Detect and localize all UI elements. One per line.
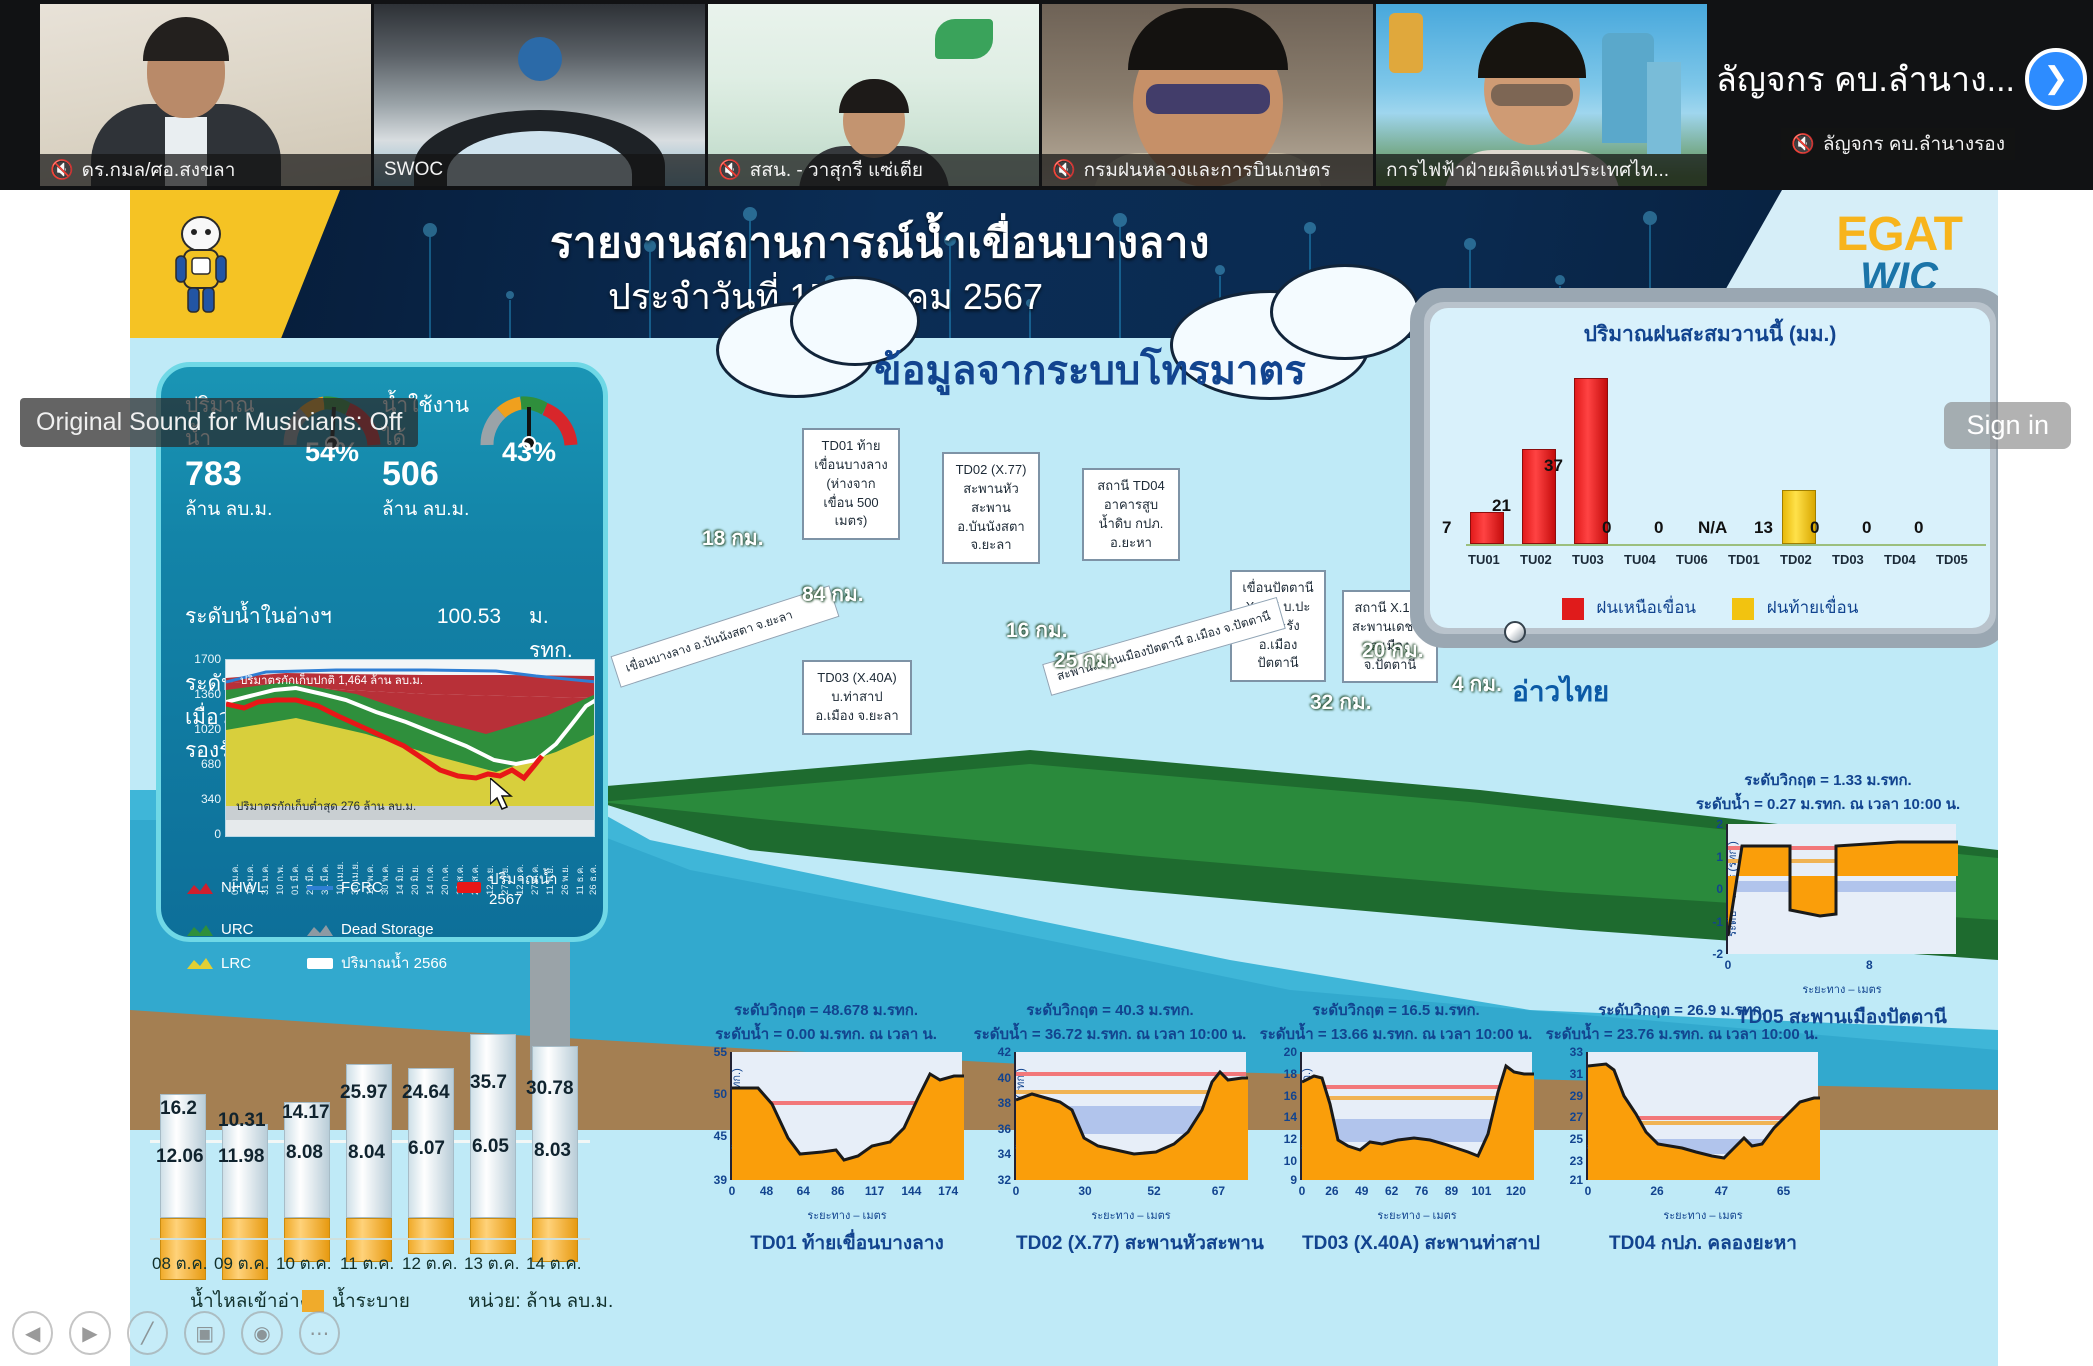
outflow-value-2: 11.98 <box>218 1146 265 1168</box>
gulf-of-thailand-label: อ่าวไทย <box>1512 670 1609 714</box>
outflow-bar-5 <box>408 1218 454 1254</box>
xtick: 30 <box>1078 1184 1091 1198</box>
td03-water-label: ระดับน้ำ = 13.66 ม.รทก. ณ เวลา 10:00 น. <box>1256 1022 1536 1046</box>
ytick: 16 <box>1284 1089 1297 1103</box>
xtick: 0 <box>1299 1184 1306 1198</box>
legend-item-volume-2567: ปริมาณน้ำ 2567 <box>457 867 587 908</box>
rainfall-cat-tu02: TU02 <box>1520 552 1552 567</box>
xtick: 26 <box>1325 1184 1338 1198</box>
water-report-slide: รายงานสถานการณ์น้ำเขื่อนบางลาง ประจำวันท… <box>130 190 1998 1366</box>
td04-water-label: ระดับน้ำ = 23.76 ม.รทก. ณ เวลา 10:00 น. <box>1542 1022 1822 1046</box>
ytick: 0 <box>1716 882 1723 896</box>
participant-name-4: การไฟฟ้าฝ่ายผลิตแห่งประเทศไท... <box>1386 155 1669 185</box>
td05-critical-label: ระดับวิกฤต = 1.33 ม.รทก. <box>1678 768 1978 792</box>
ytick: 55 <box>714 1045 727 1059</box>
xtick: 8 <box>1866 958 1873 972</box>
area-swatch-icon <box>187 924 213 936</box>
date-label-7: 14 ต.ค. <box>526 1250 582 1277</box>
date-label-5: 12 ต.ค. <box>402 1250 458 1277</box>
rainfall-bars <box>1466 364 1986 544</box>
participant-name-bar-4: การไฟฟ้าฝ่ายผลิตแห่งประเทศไท... <box>1376 154 1707 186</box>
td02-critical-label: ระดับวิกฤต = 40.3 ม.รทก. <box>970 998 1250 1022</box>
ytick: 20 <box>1284 1045 1297 1059</box>
td01-water-label: ระดับน้ำ = 0.00 ม.รทก. ณ เวลา น. <box>686 1022 966 1046</box>
egat-wic-logo: EGAT WIC <box>1836 212 1962 296</box>
gauge-storage-unit: ล้าน ลบ.ม. <box>185 494 278 524</box>
video-tile-4-active-speaker[interactable]: การไฟฟ้าฝ่ายผลิตแห่งประเทศไท... <box>1376 4 1707 186</box>
ytick: 31 <box>1570 1067 1583 1081</box>
legend-label: ฝนเหนือเขื่อน <box>1596 598 1696 617</box>
td05-plot: ระดับ – เมตร (รทก.) 2 1 0 -1 -2 0 8 ระย <box>1726 824 1956 954</box>
outflow-bar-6 <box>470 1218 516 1254</box>
row-unit: ม. รทก. <box>529 600 579 667</box>
xtick: 0 <box>729 1184 736 1198</box>
shared-screen-area: รายงานสถานการณ์น้ำเขื่อนบางลาง ประจำวันท… <box>0 190 2093 1366</box>
ytick: 14 <box>1284 1110 1297 1124</box>
ytick: 38 <box>998 1096 1011 1110</box>
ytick: 1360 <box>194 687 221 701</box>
ytick: 23 <box>1570 1154 1583 1168</box>
ytick: 45 <box>714 1129 727 1143</box>
td05-xlabel: ระยะทาง – เมตร <box>1728 980 1956 998</box>
more-options-button[interactable]: ⋯ <box>299 1311 340 1355</box>
td02-xlabel: ระยะทาง – เมตร <box>1016 1206 1246 1224</box>
legend-item-nhwl: NHWL <box>187 867 307 908</box>
rainfall-cat-tu03: TU03 <box>1572 552 1604 567</box>
chevron-right-icon: ❯ <box>2043 64 2068 94</box>
rainfall-value-tu04: 0 <box>1602 518 1611 538</box>
station-chart-td02: ระดับวิกฤต = 40.3 ม.รทก. ระดับน้ำ = 36.7… <box>970 998 1250 1180</box>
video-tiles: 🔇 ดร.กมล/ศอ.สงขลา SWOC 🔇 สสน. - วา <box>40 4 1710 186</box>
rainfall-value-td01: N/A <box>1698 518 1727 538</box>
legend-label: NHWL <box>221 879 265 896</box>
station-chart-td01: ระดับวิกฤต = 48.678 ม.รทก. ระดับน้ำ = 0.… <box>686 998 966 1180</box>
outflow-value-1: 12.06 <box>156 1146 204 1168</box>
row-value: 100.53 <box>409 600 529 667</box>
gauge-usable-percent: 43% <box>479 437 579 468</box>
video-filmstrip: 🔇 ดร.กมล/ศอ.สงขลา SWOC 🔇 สสน. - วา <box>0 0 2093 190</box>
area-swatch-icon <box>307 924 333 936</box>
reservoir-summary-card: ปริมาณน้ำ 783 ล้าน ลบ.ม. <box>156 362 608 942</box>
legend-item-urc: URC <box>187 921 307 938</box>
ytick: 40 <box>998 1071 1011 1085</box>
callout-td01: TD01 ท้ายเขื่อนบางลาง (ห่างจากเขื่อน 500… <box>802 428 900 540</box>
date-label-6: 13 ต.ค. <box>464 1250 520 1277</box>
ytick: 0 <box>214 827 221 841</box>
storage-chart-plot: ปริมาตรกักเก็บปกติ 1,464 ล้าน ลบ.ม. ปริม… <box>225 659 595 837</box>
outflow-value-7: 8.03 <box>534 1140 571 1162</box>
ytick: 18 <box>1284 1067 1297 1081</box>
prev-arrow-icon: ◀ <box>25 1321 40 1346</box>
td01-xlabel: ระยะทาง – เมตร <box>732 1206 962 1224</box>
xtick: 174 <box>938 1184 958 1198</box>
inflow-value-3: 14.17 <box>282 1102 330 1124</box>
rainfall-cat-td01: TD01 <box>1728 552 1760 567</box>
unit-note: หน่วย: ล้าน ลบ.ม. <box>468 1286 613 1316</box>
legend-label: URC <box>221 921 254 938</box>
rainfall-value-tu03: 37 <box>1544 456 1563 476</box>
rainfall-chart: ปริมาณฝนสะสมวานนี้ (มม.) 7 21 37 0 0 N/A… <box>1430 308 1990 628</box>
slide-title: รายงานสถานการณ์น้ำเขื่อนบางลาง <box>550 210 1210 276</box>
participant-name-5: ลัญจกร คบ.ลำนางรอง <box>1823 129 2005 159</box>
xtick: 26 <box>1650 1184 1663 1198</box>
distance-label-20km: 20 กม. <box>1362 634 1424 667</box>
xtick: 76 <box>1415 1184 1428 1198</box>
rainfall-value-td02: 13 <box>1754 518 1773 538</box>
egat-logo-text: EGAT <box>1836 208 1962 261</box>
gauge-storage-value: 783 <box>185 455 278 494</box>
date-label-4: 11 ต.ค. <box>340 1250 394 1277</box>
ytick: 9 <box>1290 1173 1297 1187</box>
xtick: 0 <box>1725 958 1732 972</box>
ytick: 42 <box>998 1045 1011 1059</box>
xtick: 26 ธ.ค. <box>586 864 601 895</box>
original-sound-toast: Original Sound for Musicians: Off <box>20 398 418 447</box>
distance-label-16km: 16 กม. <box>1006 614 1068 647</box>
stamp-icon: ▣ <box>195 1321 214 1346</box>
gauge-usable-dial: 43% <box>479 391 579 465</box>
xtick: 47 <box>1715 1184 1728 1198</box>
inflow-bar-6 <box>470 1034 516 1218</box>
ytick: 1 <box>1716 850 1723 864</box>
rainfall-cat-tu06: TU06 <box>1676 552 1708 567</box>
ytick: 29 <box>1570 1089 1583 1103</box>
participant-name-bar-2: 🔇 สสน. - วาสุกรี แซ่เตีย <box>708 154 1039 186</box>
participant-name-bar-0: 🔇 ดร.กมล/ศอ.สงขลา <box>40 154 371 186</box>
inflow-value-2: 10.31 <box>218 1110 266 1132</box>
rainfall-cat-tu01: TU01 <box>1468 552 1500 567</box>
ytick: 32 <box>998 1173 1011 1187</box>
xtick: 101 <box>1471 1184 1491 1198</box>
yellow-swatch-icon <box>1732 598 1754 620</box>
ytick: 39 <box>714 1173 727 1187</box>
pen-button[interactable]: ╱ <box>127 1311 168 1355</box>
date-label-2: 09 ต.ค. <box>214 1250 270 1277</box>
area-swatch-icon <box>187 882 213 894</box>
participant-name-bar-5: 🔇 ลัญจกร คบ.ลำนางรอง <box>1781 128 2015 160</box>
td05-water-label: ระดับน้ำ = 0.27 ม.รทก. ณ เวลา 10:00 น. <box>1678 792 1978 816</box>
video-tile-0[interactable]: 🔇 ดร.กมล/ศอ.สงขลา <box>40 4 371 186</box>
stamp-button[interactable]: ▣ <box>184 1311 225 1355</box>
legend-label: FCRC <box>341 879 383 896</box>
distance-label-4km: 4 กม. <box>1452 668 1502 701</box>
mic-muted-icon: 🔇 <box>1791 135 1815 154</box>
td04-xlabel: ระยะทาง – เมตร <box>1588 1206 1818 1224</box>
video-tile-3[interactable]: 🔇 กรมฝนหลวงและการบินเกษตร <box>1042 4 1373 186</box>
date-label-1: 08 ต.ค. <box>152 1250 208 1277</box>
storage-chart-yaxis: 1700 1360 1020 680 340 0 <box>179 659 223 837</box>
ytick: 340 <box>201 792 221 806</box>
distance-label-84km: 84 กม. <box>802 578 864 611</box>
td03-xlabel: ระยะทาง – เมตร <box>1302 1206 1532 1224</box>
prev-arrow-button[interactable]: ◀ <box>12 1311 53 1355</box>
ytick: 1700 <box>194 652 221 666</box>
xtick: 86 <box>831 1184 844 1198</box>
td01-plot: ระดับ – เมตร (รทก.) 55 50 45 39 0 48 64 … <box>730 1052 962 1180</box>
outflow-value-5: 6.07 <box>408 1138 445 1160</box>
mic-muted-icon: 🔇 <box>1052 161 1076 180</box>
td01-critical-label: ระดับวิกฤต = 48.678 ม.รทก. <box>686 998 966 1022</box>
rainfall-cat-tu04: TU04 <box>1624 552 1656 567</box>
inflow-value-1: 16.2 <box>160 1098 197 1120</box>
station-chart-td03: ระดับวิกฤต = 16.5 ม.รทก. ระดับน้ำ = 13.6… <box>1256 998 1536 1180</box>
outflow-value-6: 6.05 <box>472 1136 509 1158</box>
video-tile-2[interactable]: 🔇 สสน. - วาสุกรี แซ่เตีย <box>708 4 1039 186</box>
sign-in-button[interactable]: Sign in <box>1944 402 2071 449</box>
ytick: 21 <box>1570 1173 1583 1187</box>
rainfall-legend: ฝนเหนือเขื่อน ฝนท้ายเขื่อน <box>1430 594 1990 621</box>
rainfall-value-td03: 0 <box>1810 518 1819 538</box>
xtick: 67 <box>1212 1184 1225 1198</box>
ytick: -2 <box>1712 947 1723 961</box>
rainfall-cat-td02: TD02 <box>1780 552 1812 567</box>
legend-label: Dead Storage <box>341 921 434 938</box>
ytick: 2 <box>1716 817 1723 831</box>
td03-plot: ระดับ – เมตร (รทก.) 20 18 16 14 12 10 9 <box>1300 1052 1532 1180</box>
overflow-participant-name: ลัญจกร คบ.ลำนาง... <box>1716 52 2015 106</box>
xtick: 144 <box>901 1184 921 1198</box>
td04-name: TD04 กปภ. คลองยะหา <box>1588 1228 1818 1258</box>
xtick: 52 <box>1147 1184 1160 1198</box>
summary-row: ระดับน้ำในอ่างฯ 100.53 ม. รทก. <box>185 600 579 667</box>
diagram-title: ข้อมูลจากระบบโทรมาตร <box>830 338 1350 402</box>
mic-muted-icon: 🔇 <box>718 161 742 180</box>
play-button[interactable]: ▶ <box>69 1311 110 1355</box>
rainfall-bar-tu01 <box>1470 512 1504 544</box>
spotlight-button[interactable]: ◉ <box>241 1311 282 1355</box>
rainfall-cat-td04: TD04 <box>1884 552 1916 567</box>
participant-name-2: สสน. - วาสุกรี แซ่เตีย <box>750 155 923 185</box>
distance-label-18km: 18 กม. <box>702 522 764 555</box>
ytick: -1 <box>1712 915 1723 929</box>
video-tile-1[interactable]: SWOC <box>374 4 705 186</box>
distance-label-32km: 32 กม. <box>1310 686 1372 719</box>
td03-critical-label: ระดับวิกฤต = 16.5 ม.รทก. <box>1256 998 1536 1022</box>
participant-name-1: SWOC <box>384 159 443 181</box>
legend-upstream-rain: ฝนเหนือเขื่อน <box>1562 594 1696 621</box>
inflow-bar-2 <box>222 1124 268 1218</box>
td04-plot: ระดับ – เมตร (รทก.) 33 31 29 27 25 23 21 <box>1586 1052 1818 1180</box>
thick-swatch-icon <box>457 882 481 893</box>
participant-name-0: ดร.กมล/ศอ.สงขลา <box>82 155 236 185</box>
more-icon: ⋯ <box>309 1321 329 1346</box>
outflow-value-3: 8.08 <box>286 1142 323 1164</box>
station-chart-td05: ระดับวิกฤต = 1.33 ม.รทก. ระดับน้ำ = 0.27… <box>1678 768 1978 954</box>
legend-label: ปริมาณน้ำ 2567 <box>489 867 587 908</box>
inflow-value-7: 30.78 <box>526 1078 574 1100</box>
annotation-toolbar: ◀ ▶ ╱ ▣ ◉ ⋯ <box>0 1300 340 1366</box>
distance-label-25km: 25 กม. <box>1054 644 1116 677</box>
zoom-meeting-window: 🔇 ดร.กมล/ศอ.สงขลา SWOC 🔇 สสน. - วา <box>0 0 2093 1366</box>
participant-name-bar-1: SWOC <box>374 154 705 186</box>
legend-downstream-rain: ฝนท้ายเขื่อน <box>1732 594 1858 621</box>
legend-label: ฝนท้ายเขื่อน <box>1767 598 1859 617</box>
participant-name-3: กรมฝนหลวงและการบินเกษตร <box>1084 155 1331 185</box>
inflow-value-6: 35.7 <box>470 1072 507 1094</box>
filmstrip-next-page-button[interactable]: ❯ <box>2025 48 2087 110</box>
td02-plot: ระดับ – เมตร (รทก.) 42 40 38 36 34 32 0 <box>1014 1052 1246 1180</box>
inflow-bar-7 <box>532 1046 578 1218</box>
callout-td03: TD03 (X.40A) บ.ท่าสาป อ.เมือง จ.ยะลา <box>802 660 912 735</box>
inflow-value-5: 24.64 <box>402 1082 450 1104</box>
tablet-slider-handle[interactable] <box>1504 621 1526 643</box>
xtick: 62 <box>1385 1184 1398 1198</box>
rainfall-chart-title: ปริมาณฝนสะสมวานนี้ (มม.) <box>1430 318 1990 351</box>
storage-note-min: ปริมาตรกักเก็บต่ำสุด 276 ล้าน ลบ.ม. <box>236 798 416 816</box>
td01-name: TD01 ท้ายเขื่อนบางลาง <box>732 1228 962 1258</box>
inflow-outflow-chart: 16.2 10.31 14.17 25.97 24.64 35.7 30.78 … <box>150 950 620 1330</box>
ytick: 10 <box>1284 1154 1297 1168</box>
td02-water-label: ระดับน้ำ = 36.72 ม.รทก. ณ เวลา 10:00 น. <box>970 1022 1250 1046</box>
pen-icon: ╱ <box>141 1321 153 1346</box>
outflow-value-4: 8.04 <box>348 1142 385 1164</box>
ytick: 25 <box>1570 1132 1583 1146</box>
ytick: 50 <box>714 1087 727 1101</box>
rainfall-tablet: ปริมาณฝนสะสมวานนี้ (มม.) 7 21 37 0 0 N/A… <box>1410 288 1998 648</box>
mic-muted-icon: 🔇 <box>50 161 74 180</box>
ytick: 1020 <box>194 722 221 736</box>
rainfall-cat-td05: TD05 <box>1936 552 1968 567</box>
participant-name-bar-3: 🔇 กรมฝนหลวงและการบินเกษตร <box>1042 154 1373 186</box>
xtick: 0 <box>1013 1184 1020 1198</box>
storage-area-chart: 1700 1360 1020 680 340 0 <box>179 659 595 859</box>
legend-outflow: น้ำระบาย <box>332 1286 410 1316</box>
rainfall-value-td04: 0 <box>1862 518 1871 538</box>
gauge-usable-value: 506 <box>382 455 475 494</box>
ytick: 34 <box>998 1147 1011 1161</box>
xtick: 65 <box>1777 1184 1790 1198</box>
ytick: 36 <box>998 1122 1011 1136</box>
storage-note-normal: ปริมาตรกักเก็บปกติ 1,464 ล้าน ลบ.ม. <box>240 672 423 690</box>
mascot-icon <box>158 212 244 320</box>
inflow-axis-line <box>150 1238 590 1240</box>
legend-item-fcrc: FCRC <box>307 867 457 908</box>
xtick: 49 <box>1355 1184 1368 1198</box>
xtick: 48 <box>760 1184 773 1198</box>
ytick: 680 <box>201 757 221 771</box>
xtick: 64 <box>797 1184 810 1198</box>
td03-name: TD03 (X.40A) สะพานท่าสาป <box>1302 1228 1532 1258</box>
station-chart-td04: ระดับวิกฤต = 26.9 ม.รทก. ระดับน้ำ = 23.7… <box>1542 998 1822 1180</box>
td04-critical-label: ระดับวิกฤต = 26.9 ม.รทก. <box>1542 998 1822 1022</box>
mouse-cursor-icon <box>490 778 516 812</box>
gauge-usable-unit: ล้าน ลบ.ม. <box>382 494 475 524</box>
ytick: 33 <box>1570 1045 1583 1059</box>
play-icon: ▶ <box>82 1321 97 1346</box>
xtick: 0 <box>1585 1184 1592 1198</box>
legend-item-dead-storage: Dead Storage <box>307 921 457 938</box>
ytick: 12 <box>1284 1132 1297 1146</box>
xtick: 89 <box>1445 1184 1458 1198</box>
line-swatch-icon <box>307 886 333 890</box>
rainfall-value-tu02: 21 <box>1492 496 1511 516</box>
spotlight-icon: ◉ <box>253 1321 270 1346</box>
callout-td04: สถานี TD04 อาคารสูบน้ำดิบ กปภ. อ.ยะหา <box>1082 468 1180 561</box>
rainfall-value-td05: 0 <box>1914 518 1923 538</box>
inflow-value-4: 25.97 <box>340 1082 388 1104</box>
date-label-3: 10 ต.ค. <box>276 1250 332 1277</box>
ytick: 27 <box>1570 1110 1583 1124</box>
rainfall-cat-td03: TD03 <box>1832 552 1864 567</box>
xtick: 117 <box>865 1184 884 1198</box>
xtick: 120 <box>1506 1184 1526 1198</box>
rainfall-value-tu01: 7 <box>1442 518 1451 538</box>
rainfall-value-tu06: 0 <box>1654 518 1663 538</box>
red-swatch-icon <box>1562 598 1584 620</box>
rainfall-baseline <box>1466 544 1986 546</box>
callout-td02: TD02 (X.77) สะพานหัวสะพาน อ.บันนังสตา จ.… <box>942 452 1040 564</box>
td02-name: TD02 (X.77) สะพานหัวสะพาน <box>1016 1228 1246 1258</box>
